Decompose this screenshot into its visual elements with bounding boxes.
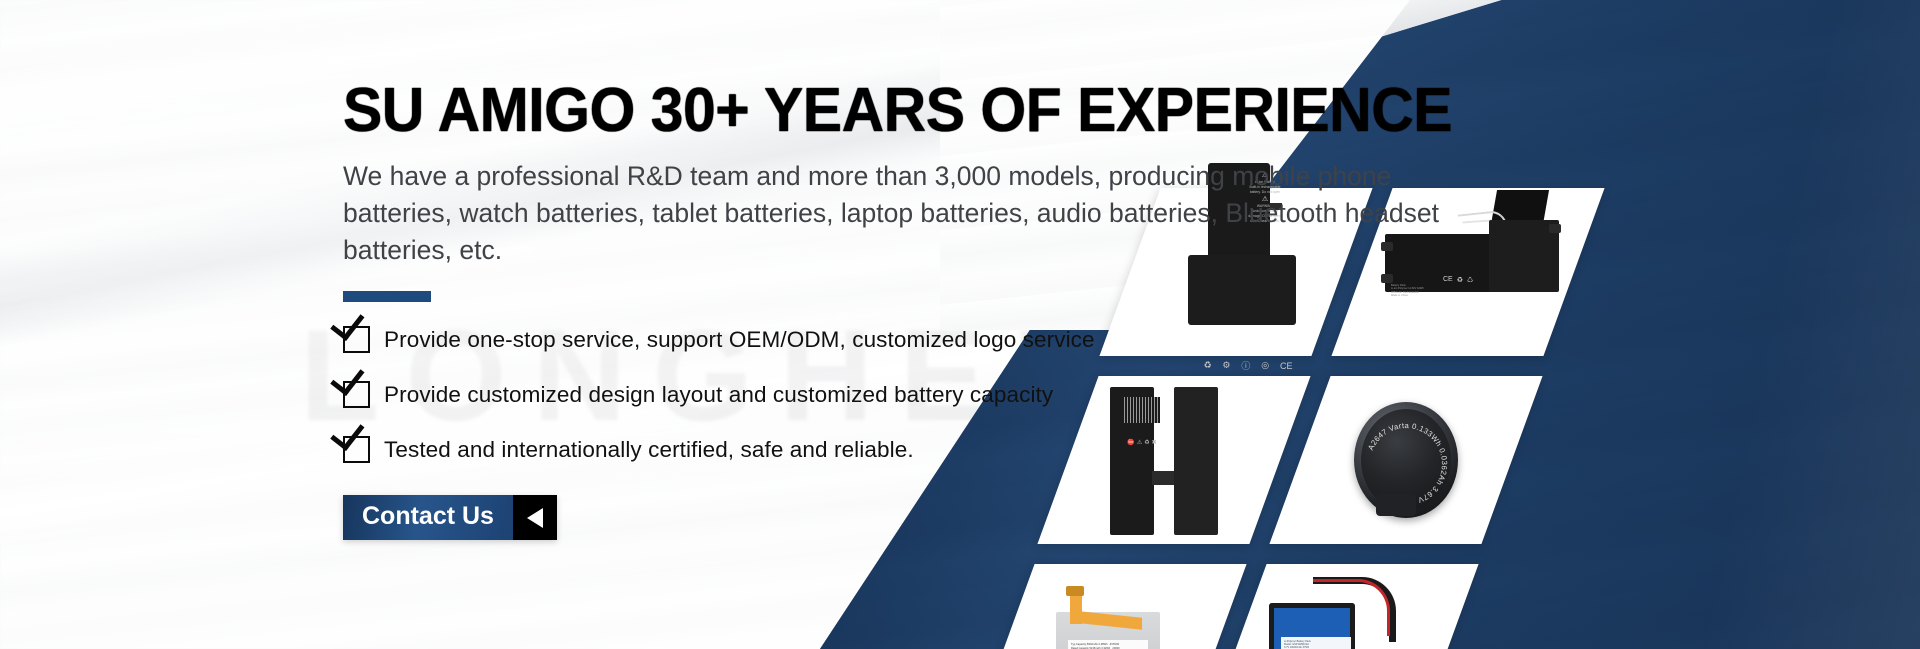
contact-us-button[interactable]: Contact Us xyxy=(343,495,513,540)
flex-cable-connector xyxy=(1066,586,1084,596)
banner-subcopy: We have a professional R&D team and more… xyxy=(343,158,1478,269)
audio-pack-spec-text: Li-Polymer Battery PackModel: GSP1029102… xyxy=(1284,640,1348,649)
tile-pouch-cell[interactable]: Typ.Capacity 5000mAh 2.38Wh ZV5V90 Rated… xyxy=(973,564,1246,649)
tile-pouch-cell-inner: Typ.Capacity 5000mAh 2.38Wh ZV5V90 Rated… xyxy=(1004,564,1216,649)
checkbox-checked-icon[interactable] xyxy=(343,381,370,408)
accent-bar xyxy=(343,291,431,302)
feature-text: Provide customized design layout and cus… xyxy=(384,382,1053,408)
list-item: Tested and internationally certified, sa… xyxy=(343,436,1463,463)
promo-banner: LONGHEHUI ⚠ Li-ion BatteryBuilt-in recha… xyxy=(0,0,1920,649)
audio-pack-body: Li-Polymer Battery PackModel: GSP1029102… xyxy=(1269,603,1355,649)
list-item: Provide customized design layout and cus… xyxy=(343,381,1463,408)
recycle-icon: ♺ xyxy=(1467,276,1473,284)
checkbox-checked-icon[interactable] xyxy=(343,326,370,353)
pouch-cell-graphic: Typ.Capacity 5000mAh 2.38Wh ZV5V90 Rated… xyxy=(1048,586,1168,649)
tile-audio-pack-inner: Li-Polymer Battery PackModel: GSP1029102… xyxy=(1236,564,1448,649)
contact-us-cta[interactable]: Contact Us xyxy=(343,495,557,540)
audio-pack-label: Li-Polymer Battery PackModel: GSP1029102… xyxy=(1281,637,1351,649)
page-title: SU AMIGO 30+ YEARS OF EXPERIENCE xyxy=(343,78,1407,144)
list-item: Provide one-stop service, support OEM/OD… xyxy=(343,326,1463,353)
audio-pack-graphic: Li-Polymer Battery PackModel: GSP1029102… xyxy=(1265,577,1415,649)
feature-text: Provide one-stop service, support OEM/OD… xyxy=(384,327,1095,353)
checkbox-checked-icon[interactable] xyxy=(343,436,370,463)
pouch-cell-flex-cable xyxy=(1066,586,1142,626)
feature-list: Provide one-stop service, support OEM/OD… xyxy=(343,326,1463,463)
pouch-cell-spec-text: Typ.Capacity 5000mAh 2.38Wh ZV5V90 Rated… xyxy=(1071,643,1145,649)
chevron-left-icon[interactable] xyxy=(513,495,557,540)
banner-content: SU AMIGO 30+ YEARS OF EXPERIENCE We have… xyxy=(343,78,1463,540)
pouch-cell-label: Typ.Capacity 5000mAh 2.38Wh ZV5V90 Rated… xyxy=(1068,640,1148,649)
tile-audio-pack[interactable]: Li-Polymer Battery PackModel: GSP1029102… xyxy=(1205,564,1478,649)
feature-text: Tested and internationally certified, sa… xyxy=(384,437,914,463)
laptop-battery-mount-3 xyxy=(1549,224,1561,233)
